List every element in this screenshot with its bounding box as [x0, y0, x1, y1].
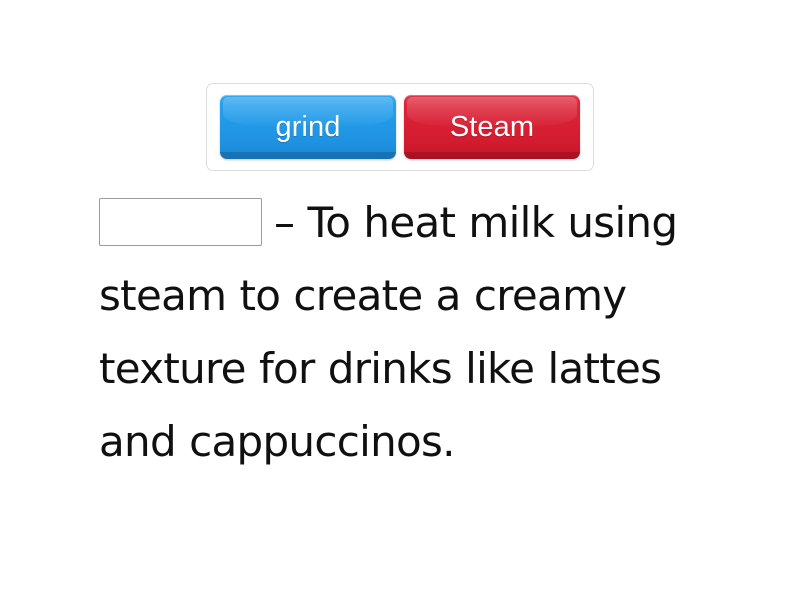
word-option-steam[interactable]: Steam: [404, 95, 580, 159]
word-option-grind-label: grind: [276, 113, 341, 142]
word-option-steam-label: Steam: [450, 113, 534, 142]
word-bank: grind Steam: [206, 83, 594, 171]
answer-blank-box[interactable]: [99, 198, 262, 246]
question-sentence: – To heat milk using steam to create a c…: [99, 186, 724, 478]
word-option-grind[interactable]: grind: [220, 95, 396, 159]
word-bank-region: grind Steam: [0, 83, 800, 171]
activity-page: { "page": { "background_color": "#ffffff…: [0, 0, 800, 600]
